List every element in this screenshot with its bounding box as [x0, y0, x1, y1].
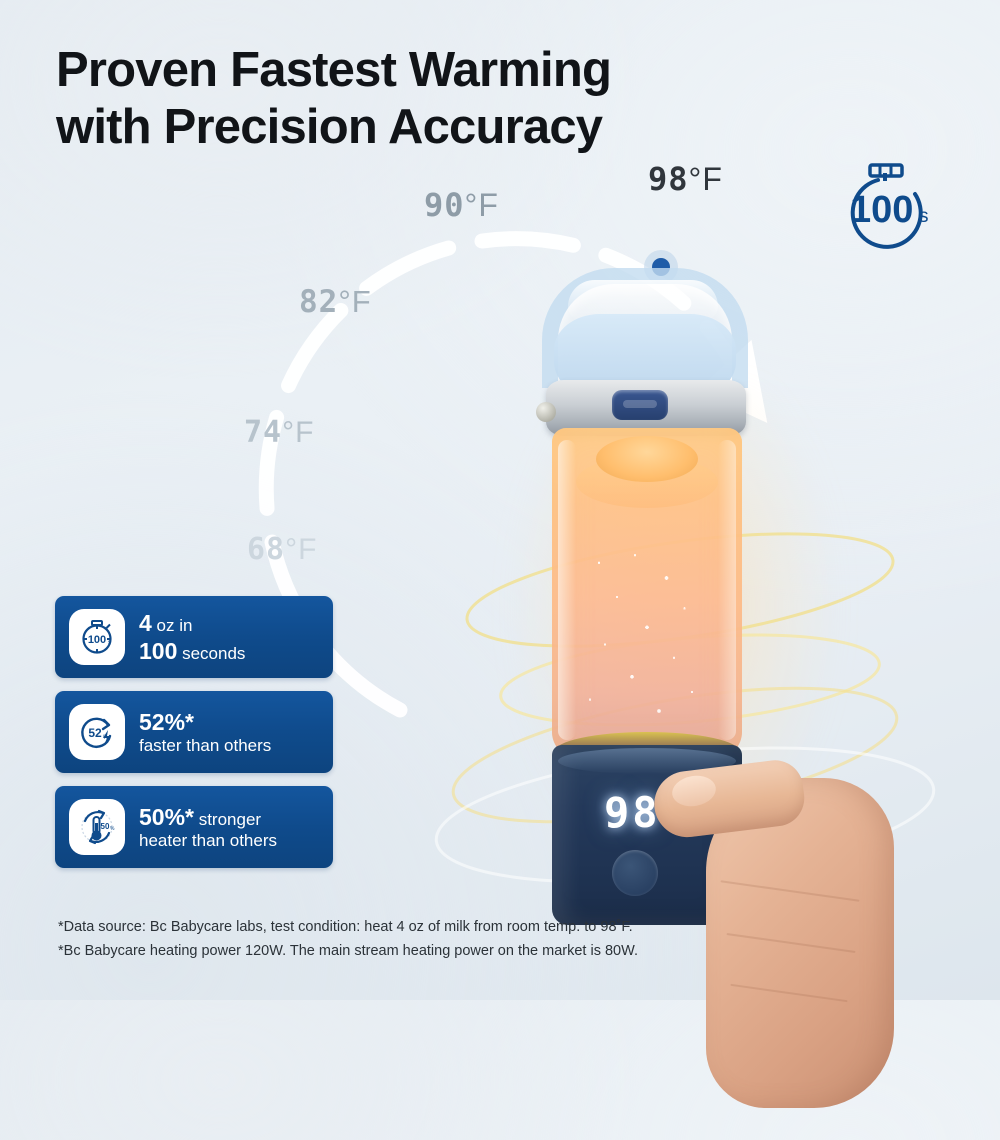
- card-label-1: stronger: [194, 810, 261, 829]
- timer-badge-unit: s: [919, 206, 929, 227]
- feature-card-text: 4 oz in 100 seconds: [139, 609, 245, 665]
- feature-card-speed[interactable]: 100 s 4 oz in 100 seconds: [55, 596, 333, 678]
- body-highlight-left: [558, 440, 576, 740]
- body-highlight-right: [718, 440, 736, 740]
- feature-card-heater[interactable]: 50 % 50%* stronger heater than others: [55, 786, 333, 868]
- card-value-1: 50%*: [139, 804, 194, 830]
- product-bottle-warmer: 98: [480, 240, 900, 930]
- temp-label-68: 68°F: [247, 532, 317, 567]
- temp-label-98: 98°F: [648, 160, 723, 198]
- icon-value: 50: [101, 822, 110, 831]
- card-value-2: 100: [139, 638, 177, 664]
- temp-label-82: 82°F: [299, 284, 372, 320]
- feature-card-faster[interactable]: 52 % 52%* faster than others: [55, 691, 333, 773]
- icon-unit: s: [108, 640, 111, 646]
- timer-badge-value: 100: [850, 189, 913, 231]
- icon-value: 100: [88, 634, 106, 646]
- feature-card-text: 50%* stronger heater than others: [139, 803, 277, 852]
- lid-release-button[interactable]: [612, 390, 668, 420]
- stopwatch-100s-icon: 100 s: [69, 609, 125, 665]
- icon-unit: %: [103, 735, 109, 741]
- card-label-2: faster than others: [139, 736, 271, 755]
- card-value-1: 4: [139, 610, 152, 636]
- card-label-2: seconds: [177, 644, 245, 663]
- page-title: Proven Fastest Warming with Precision Ac…: [56, 42, 756, 156]
- footnotes: *Data source: Bc Babycare labs, test con…: [58, 916, 958, 964]
- handle-hinge: [536, 402, 556, 422]
- feature-card-text: 52%* faster than others: [139, 708, 271, 757]
- icon-value: 52: [88, 726, 102, 740]
- speed-52-percent-icon: 52 %: [69, 704, 125, 760]
- inner-cap: [596, 436, 698, 482]
- card-label-1: oz in: [152, 616, 193, 635]
- card-label-2: heater than others: [139, 831, 277, 850]
- temp-label-90: 90°F: [424, 186, 499, 224]
- card-value-1: 52%*: [139, 709, 194, 735]
- thermometer-50-percent-icon: 50 %: [69, 799, 125, 855]
- icon-unit: %: [110, 826, 115, 832]
- footnote-2: *Bc Babycare heating power 120W. The mai…: [58, 940, 958, 964]
- temp-label-74: 74°F: [244, 415, 314, 450]
- footnote-1: *Data source: Bc Babycare labs, test con…: [58, 916, 958, 940]
- feature-card-list: 100 s 4 oz in 100 seconds 52 % 52%* fast…: [55, 596, 333, 881]
- milk-bubbles: [572, 540, 722, 730]
